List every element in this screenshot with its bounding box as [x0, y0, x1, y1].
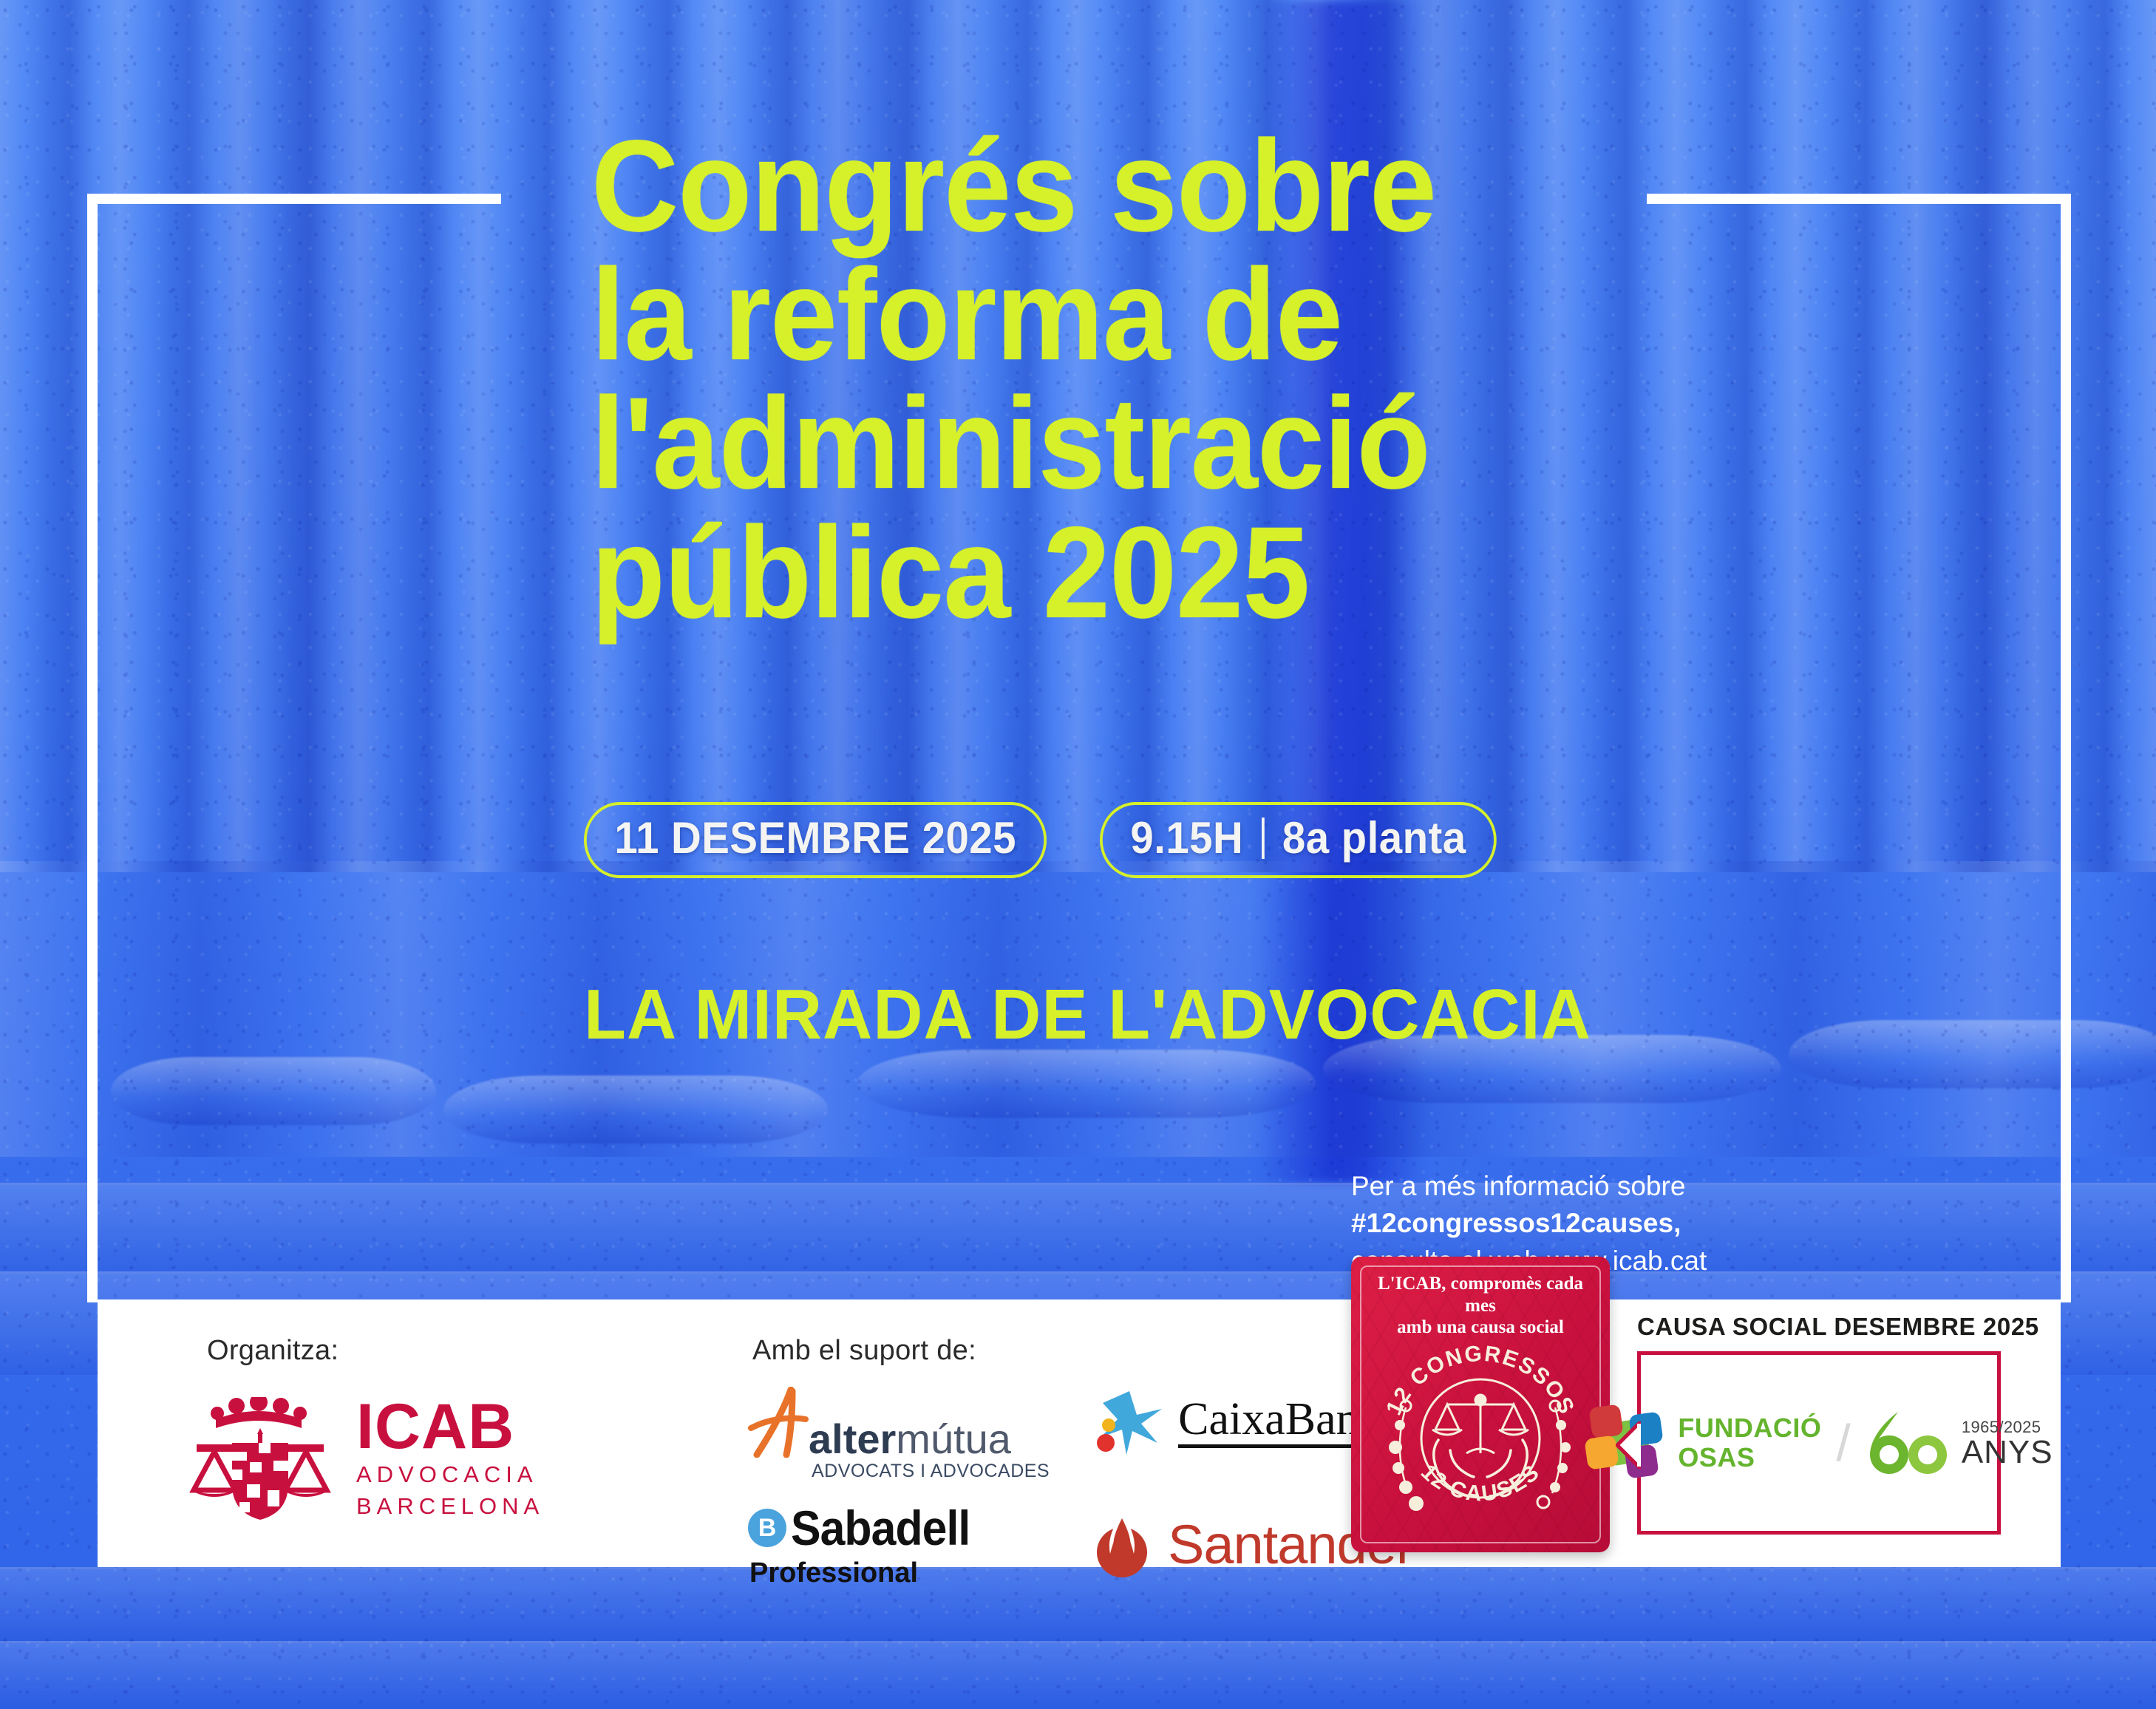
- sponsor-logo-sabadell: B Sabadell Professional: [748, 1500, 1044, 1589]
- page-title: Congrés sobre la reforma de l'administra…: [591, 122, 1622, 637]
- sabadell-b-icon: B: [748, 1509, 786, 1547]
- title-line-1: Congrés sobre: [591, 122, 1622, 251]
- altermutua-a-icon: [748, 1387, 809, 1458]
- sponsor-logos: altermútua ADVOCATS I ADVOCADES CaixaBan…: [748, 1387, 1414, 1589]
- sponsor-row-1: altermútua ADVOCATS I ADVOCADES CaixaBan…: [748, 1387, 1414, 1482]
- time-label: 9.15H: [1131, 812, 1244, 863]
- logo-divider: /: [1836, 1413, 1850, 1472]
- icab-crest-icon: [186, 1397, 334, 1521]
- date-badge: 11 DESEMBRE 2025: [584, 802, 1047, 878]
- causa-social-panel: CAUSA SOCIAL DESEMBRE 2025 FUNDACIÓ OSAS: [1637, 1313, 2014, 1535]
- date-label: 11 DESEMBRE 2025: [614, 812, 1016, 863]
- anniversary-text: 1965/2025 ANYS: [1962, 1418, 2053, 1468]
- time-location-badge: 9.15H 8a planta: [1100, 802, 1497, 878]
- support-label: Amb el suport de:: [752, 1335, 976, 1367]
- badge-emblem-icon: 12 CONGRESSOS 12 CAUSES: [1367, 1313, 1594, 1535]
- altermutua-wordmark: altermútua: [809, 1421, 1011, 1458]
- caixabank-star-icon: [1094, 1387, 1165, 1458]
- social-cause-badge: L'ICAB, compromès cada mes amb una causa…: [1351, 1257, 1610, 1552]
- sixty-years-icon: [1866, 1409, 1954, 1477]
- causa-social-box: FUNDACIÓ OSAS / 1965/2025 ANYS: [1637, 1351, 2001, 1535]
- sabadell-wordmark: Sabadell: [791, 1500, 970, 1556]
- sponsor-logo-altermutua: altermútua ADVOCATS I ADVOCADES: [748, 1387, 1050, 1482]
- page-subtitle: LA MIRADA DE L'ADVOCACIA: [584, 974, 1591, 1056]
- icab-name: ICAB: [356, 1397, 544, 1458]
- title-line-2: la reforma de: [591, 251, 1622, 379]
- sponsor-logo-caixabank: CaixaBank: [1094, 1387, 1382, 1458]
- event-details-badges: 11 DESEMBRE 2025 9.15H 8a planta: [584, 802, 1523, 878]
- osas-line-2: OSAS: [1678, 1443, 1821, 1472]
- fundacio-osas-wordmark: FUNDACIÓ OSAS: [1678, 1413, 1821, 1472]
- anniversary-logo: 1965/2025 ANYS: [1866, 1409, 2053, 1477]
- organizer-label: Organitza:: [207, 1335, 339, 1367]
- icab-sub-barcelona: BARCELONA: [356, 1492, 544, 1521]
- frame-top-right-segment: [1647, 194, 2071, 204]
- frame-left-edge: [87, 194, 98, 1302]
- icab-sub-advocacia: ADVOCACIA: [356, 1461, 544, 1489]
- icab-logo: ICAB ADVOCACIA BARCELONA: [186, 1397, 544, 1521]
- sabadell-tagline: Professional: [749, 1557, 1044, 1589]
- santander-flame-icon: [1088, 1511, 1156, 1579]
- title-line-3: l'administració: [591, 379, 1622, 508]
- badge-divider: [1262, 818, 1265, 859]
- frame-top-left-segment: [87, 194, 501, 204]
- osas-line-1: FUNDACIÓ: [1678, 1413, 1821, 1443]
- speech-notch-icon: [1616, 1421, 1641, 1469]
- location-label: 8a planta: [1282, 812, 1466, 863]
- title-line-4: pública 2025: [591, 509, 1622, 637]
- sponsor-row-2: B Sabadell Professional Santander: [748, 1500, 1414, 1589]
- info-hashtag: #12congressos12causes,: [1351, 1208, 1681, 1238]
- anniversary-word: ANYS: [1962, 1437, 2053, 1468]
- badge-heading-line-1: L'ICAB, compromès cada mes: [1378, 1274, 1583, 1316]
- info-line-1: Per a més informació sobre: [1351, 1168, 1735, 1205]
- causa-social-title: CAUSA SOCIAL DESEMBRE 2025: [1637, 1313, 2014, 1341]
- frame-right-edge: [2061, 194, 2071, 1302]
- altermutua-tagline: ADVOCATS I ADVOCADES: [812, 1461, 1050, 1482]
- icab-wordmark: ICAB ADVOCACIA BARCELONA: [356, 1397, 544, 1521]
- poster-root: Congrés sobre la reforma de l'administra…: [0, 0, 2156, 1709]
